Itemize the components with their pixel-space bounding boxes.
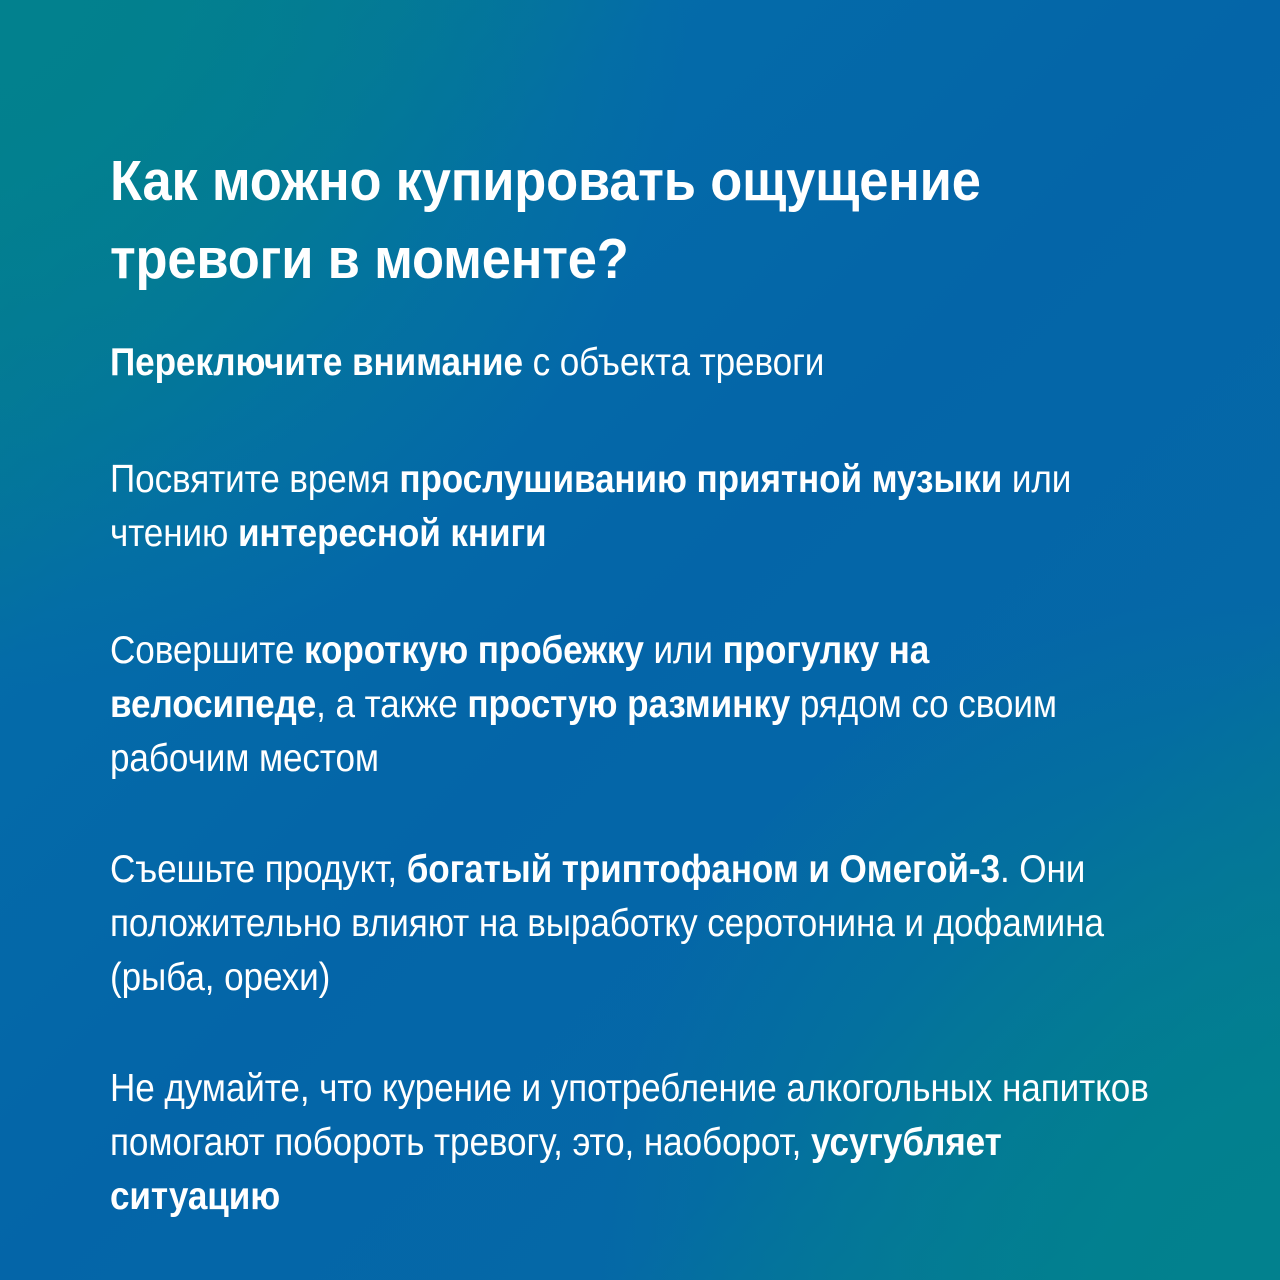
advice-list: Переключите внимание с объекта тревоги П… [110, 336, 1270, 1224]
card-content: Как можно купировать ощущение тревоги в … [110, 0, 1190, 1280]
regular-text: Съешьте продукт, [110, 848, 407, 891]
page-title: Как можно купировать ощущение тревоги в … [110, 142, 1099, 298]
emphasis-text: простую разминку [467, 683, 790, 726]
advice-item-switch-attention: Переключите внимание с объекта тревоги [110, 336, 1154, 390]
info-card: Как можно купировать ощущение тревоги в … [0, 0, 1280, 1280]
emphasis-text: интересной книги [238, 512, 547, 555]
regular-text: или [644, 629, 723, 672]
emphasis-text: прослушиванию приятной музыки [399, 458, 1002, 501]
regular-text: , а также [316, 683, 467, 726]
regular-text: Посвятите время [110, 458, 399, 501]
regular-text: Совершите [110, 629, 304, 672]
advice-item-physical-activity: Совершите короткую пробежку или прогулку… [110, 624, 1154, 786]
emphasis-text: Переключите внимание [110, 341, 523, 384]
advice-item-music-and-books: Посвятите время прослушиванию приятной м… [110, 453, 1154, 561]
emphasis-text: короткую пробежку [304, 629, 644, 672]
advice-item-tryptophan-omega: Съешьте продукт, богатый триптофаном и О… [110, 843, 1154, 1005]
advice-item-smoking-alcohol: Не думайте, что курение и употребление а… [110, 1062, 1154, 1224]
regular-text: с объекта тревоги [523, 341, 824, 384]
emphasis-text: богатый триптофаном и Омегой-3 [407, 848, 1000, 891]
